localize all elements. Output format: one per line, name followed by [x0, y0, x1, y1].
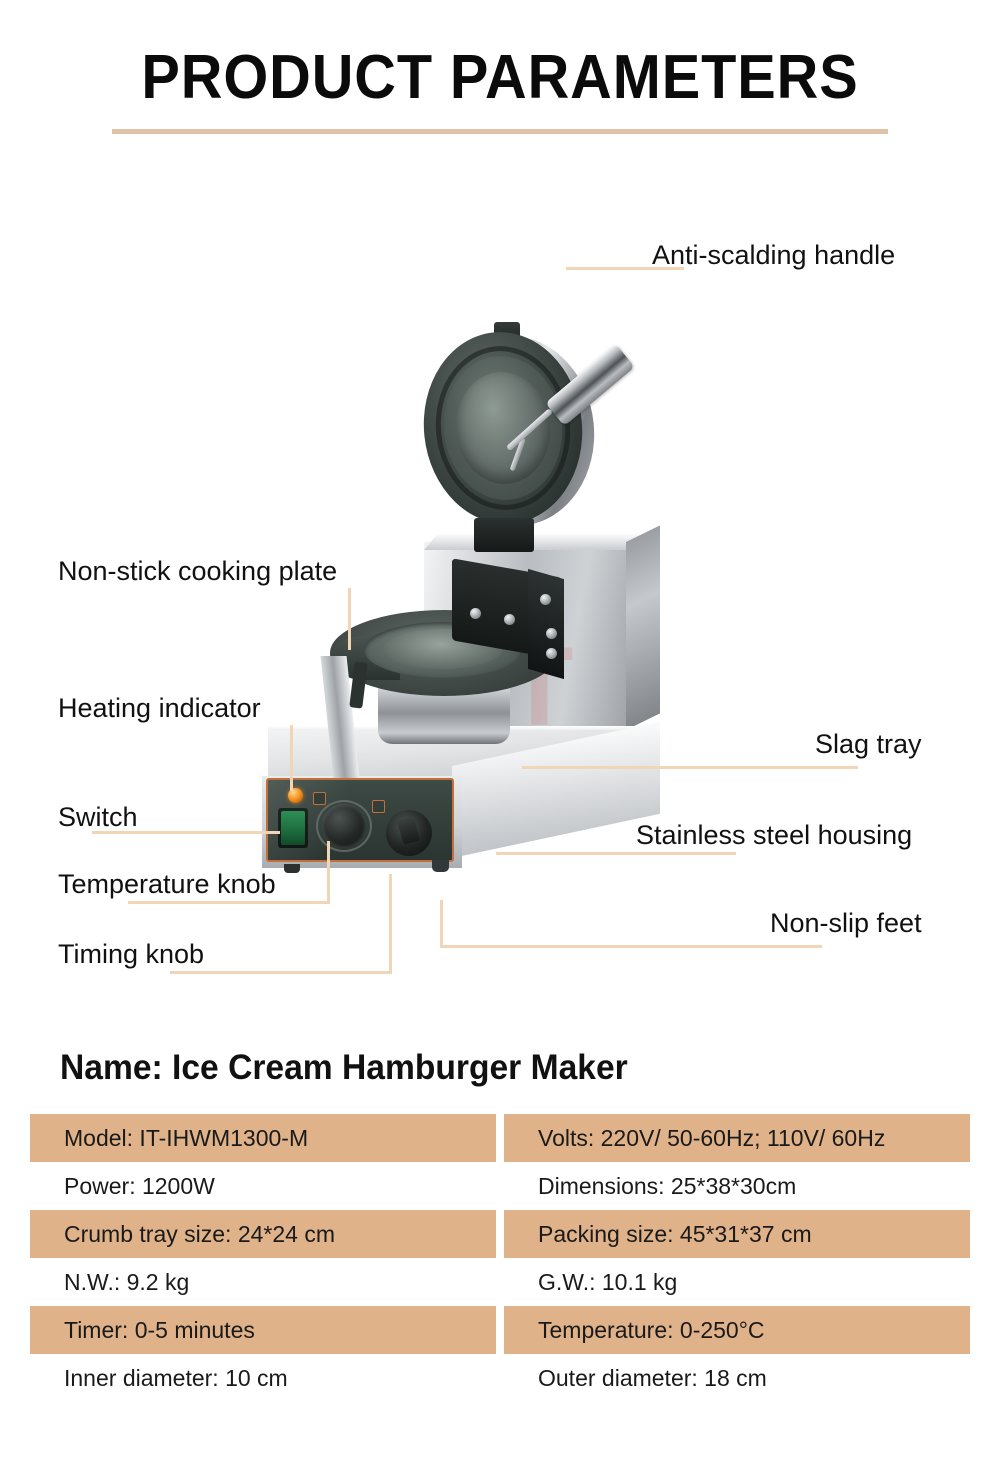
title-divider	[112, 129, 888, 134]
spec-cell-left: Crumb tray size: 24*24 cm	[30, 1210, 496, 1258]
hinge-bolt	[546, 648, 557, 659]
leader-line-switch	[92, 831, 280, 834]
spec-cell-left: Timer: 0-5 minutes	[30, 1306, 496, 1354]
callout-label-heating-indicator: Heating indicator	[58, 693, 261, 724]
panel-badge-icon	[313, 792, 326, 805]
spec-row: Power: 1200WDimensions: 25*38*30cm	[30, 1162, 970, 1210]
power-switch-rocker[interactable]	[281, 811, 305, 845]
spec-cell-right: Temperature: 0-250°C	[504, 1306, 970, 1354]
leader-line-anti-scalding-handle	[566, 267, 684, 270]
product-parameters-page: PRODUCT PARAMETERS IT	[0, 0, 1000, 1480]
lid-mount	[474, 518, 534, 552]
callout-label-stainless-steel-housing: Stainless steel housing	[636, 820, 912, 851]
page-title: PRODUCT PARAMETERS	[35, 42, 965, 113]
leader-line-non-slip-feet-v	[440, 900, 443, 948]
hinge-arm	[528, 569, 564, 679]
spec-row: Crumb tray size: 24*24 cmPacking size: 4…	[30, 1210, 970, 1258]
spec-cell-right: Packing size: 45*31*37 cm	[504, 1210, 970, 1258]
callout-label-non-stick-cooking-plate: Non-stick cooking plate	[58, 556, 337, 587]
product-name-heading: Name: Ice Cream Hamburger Maker	[60, 1048, 628, 1088]
hinge-bolt	[470, 608, 481, 619]
hinge-bolt	[504, 614, 515, 625]
spec-row: Model: IT-IHWM1300-MVolts: 220V/ 50-60Hz…	[30, 1114, 970, 1162]
leader-line-timing-knob-h	[170, 971, 392, 974]
callout-label-timing-knob: Timing knob	[58, 939, 204, 970]
spec-cell-left: Inner diameter: 10 cm	[30, 1354, 496, 1402]
leader-line-slag-tray	[522, 766, 858, 769]
spec-row: Timer: 0-5 minutesTemperature: 0-250°C	[30, 1306, 970, 1354]
spec-cell-left: Power: 1200W	[30, 1162, 496, 1210]
spec-row: N.W.: 9.2 kgG.W.: 10.1 kg	[30, 1258, 970, 1306]
spec-cell-right: Outer diameter: 18 cm	[504, 1354, 970, 1402]
callout-label-anti-scalding-handle: Anti-scalding handle	[652, 240, 895, 271]
leader-line-timing-knob-v	[389, 874, 392, 973]
upper-cooking-plate	[416, 322, 608, 552]
leader-line-heating-indicator	[290, 725, 293, 791]
leader-line-stainless-steel-housing	[496, 852, 736, 855]
non-slip-foot	[432, 860, 449, 872]
leader-line-temperature-knob-v	[327, 841, 330, 903]
spec-cell-right: Dimensions: 25*38*30cm	[504, 1162, 970, 1210]
spec-cell-right: G.W.: 10.1 kg	[504, 1258, 970, 1306]
callout-label-switch: Switch	[58, 802, 138, 833]
spec-cell-right: Volts: 220V/ 50-60Hz; 110V/ 60Hz	[504, 1114, 970, 1162]
spec-cell-left: N.W.: 9.2 kg	[30, 1258, 496, 1306]
hinge-bolt	[546, 628, 557, 639]
callout-label-temperature-knob: Temperature knob	[58, 869, 276, 900]
panel-timer-icon	[372, 800, 385, 813]
spec-row: Inner diameter: 10 cmOuter diameter: 18 …	[30, 1354, 970, 1402]
hinge-bolt	[540, 594, 551, 605]
leader-line-non-stick-cooking-plate	[348, 588, 351, 650]
housing-back-right	[626, 525, 660, 730]
non-slip-foot	[284, 864, 300, 873]
callout-label-slag-tray: Slag tray	[815, 729, 922, 760]
spec-cell-left: Model: IT-IHWM1300-M	[30, 1114, 496, 1162]
leader-line-temperature-knob-h	[128, 901, 330, 904]
callout-label-non-slip-feet: Non-slip feet	[770, 908, 922, 939]
spec-table: Model: IT-IHWM1300-MVolts: 220V/ 50-60Hz…	[30, 1114, 970, 1402]
leader-line-non-slip-feet-h	[440, 945, 822, 948]
